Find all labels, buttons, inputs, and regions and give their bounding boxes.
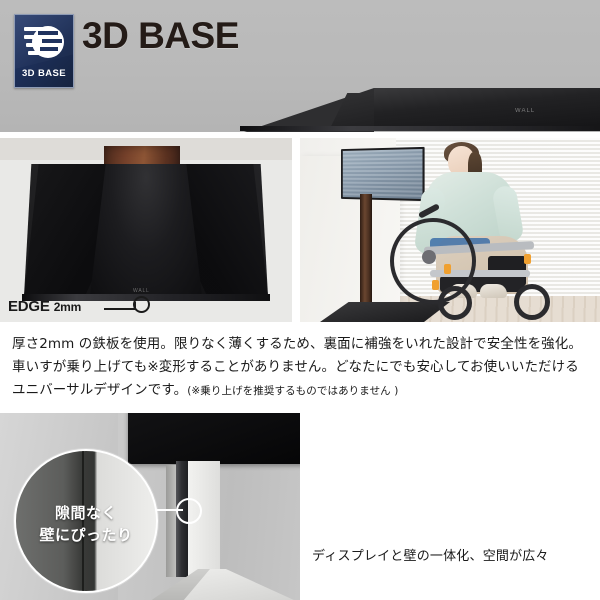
edge-callout-leader-line: [104, 308, 136, 310]
base-front-view-photo: WALL EDGE 2mm: [0, 138, 292, 322]
description-footnote: (※乗り上げを推奨するものではありません ): [187, 385, 398, 397]
magnifier-callout: 隙間なく 壁にぴったり: [14, 449, 158, 593]
product-brand-mark: WALL: [515, 108, 535, 114]
wooden-stand-pole: [360, 194, 372, 306]
feature-images-row: WALL EDGE 2mm: [0, 138, 600, 322]
page-header: 3D BASE 3D BASE WALL: [0, 0, 600, 132]
edge-callout-label-text: EDGE: [8, 298, 50, 315]
page-title: 3D BASE: [82, 14, 239, 58]
base-front-edge: [240, 126, 600, 131]
brand-logo-badge: 3D BASE: [14, 14, 74, 88]
header-product-image: WALL: [250, 0, 600, 132]
description-line-3-main: ユニバーサルデザインです。: [12, 382, 187, 398]
wheelchair-user: [396, 144, 600, 322]
description-line-1: 厚さ2mm の鉄板を使用。限りなく薄くするため、裏面に補強をいれた設計で安全性を…: [12, 333, 590, 356]
description-line-3: ユニバーサルデザインです。(※乗り上げを推奨するものではありません ): [12, 379, 590, 403]
magnifier-callout-text: 隙間なく 壁にぴったり: [16, 502, 156, 546]
description-paragraph: 厚さ2mm の鉄板を使用。限りなく薄くするため、裏面に補強をいれた設計で安全性を…: [12, 333, 590, 403]
edge-callout-value: 2mm: [54, 300, 81, 314]
bottom-row: 隙間なく 壁にぴったり: [0, 413, 600, 600]
magnifier-text-line-1: 隙間なく: [16, 502, 156, 524]
logo-badge-text: 3D BASE: [15, 68, 73, 79]
edge-callout-label: EDGE 2mm: [8, 298, 81, 315]
magnifier-target-circle-icon: [176, 498, 202, 524]
description-line-2: 車いすが乗り上げても※変形することがありません。どなたにでも安心してお使いいただ…: [12, 356, 590, 379]
black-base-body: [0, 164, 292, 304]
3d-base-logo-mark-icon: [24, 24, 64, 62]
base-top-slab: [374, 88, 600, 130]
product-feature-page: 3D BASE 3D BASE WALL WALL: [0, 0, 600, 600]
wheelchair-scene-photo: [300, 138, 600, 322]
product-brand-mark: WALL: [133, 288, 150, 294]
television-display: [128, 413, 300, 464]
bottom-caption: ディスプレイと壁の一体化、空間が広々: [312, 545, 549, 564]
magnifier-text-line-2: 壁にぴったり: [16, 524, 156, 546]
white-stand-photo: 隙間なく 壁にぴったり: [0, 413, 300, 600]
